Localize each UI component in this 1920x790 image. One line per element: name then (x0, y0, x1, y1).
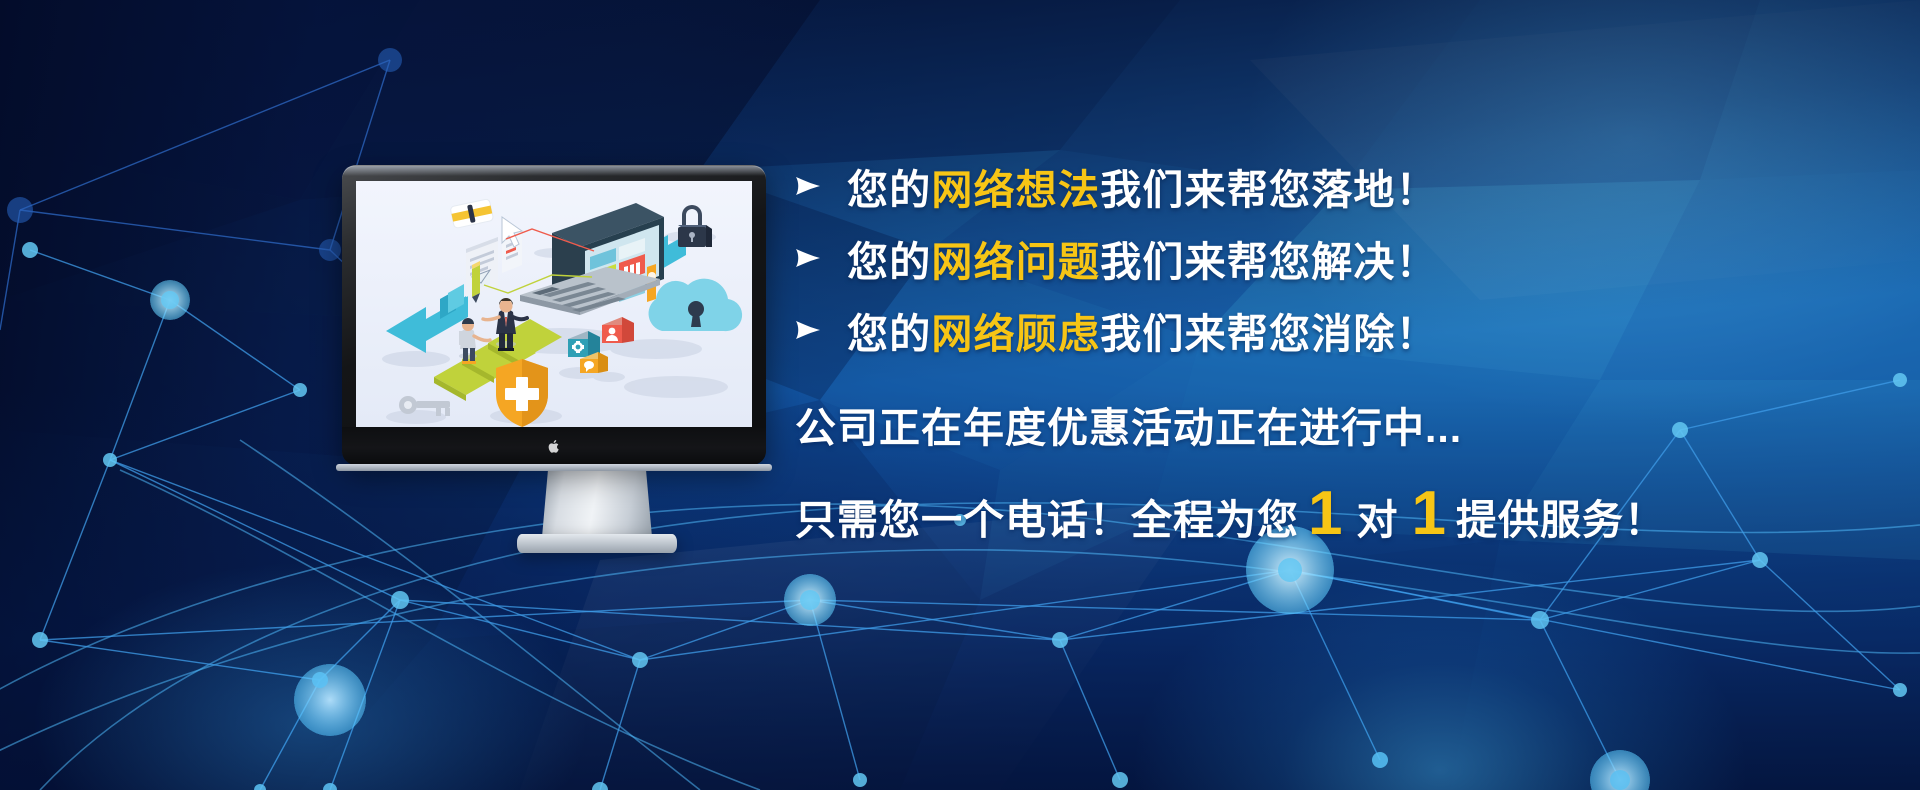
bullet-line-1: 您的网络想法我们来帮您落地！ (795, 150, 1805, 222)
bullet-1-prefix: 您的 (847, 167, 931, 213)
arrow-bullet-icon (795, 247, 821, 269)
cta-tail: 提供服务！ (1456, 486, 1666, 546)
bullet-3-highlight: 网络顾虑 (931, 311, 1100, 357)
bullet-1-highlight: 网络想法 (931, 167, 1100, 213)
bullet-text-3: 您的网络顾虑我们来帮您消除！ (847, 300, 1438, 360)
bottom-right-glow (1130, 560, 1750, 790)
cta-number-first: 1 (1299, 486, 1352, 542)
bullet-2-highlight: 网络问题 (931, 239, 1100, 285)
arrow-bullet-icon (795, 319, 821, 341)
monitor-chin (342, 427, 766, 465)
bullet-text-1: 您的网络想法我们来帮您落地！ (847, 156, 1438, 216)
cta-line: 只需您一个电话！全程为您 1 对 1 提供服务！ (795, 486, 1805, 546)
network-security-isometric-illustration (356, 181, 752, 427)
bullet-2-suffix: 我们来帮您解决！ (1100, 239, 1438, 285)
cta-between: 对 (1352, 486, 1402, 546)
monitor-bottom-edge (336, 464, 772, 471)
apple-logo-icon (548, 439, 561, 454)
bullet-line-2: 您的网络问题我们来帮您解决！ (795, 222, 1805, 294)
promo-line: 公司正在年度优惠活动正在进行中... (795, 394, 1805, 454)
bullet-3-suffix: 我们来帮您消除！ (1100, 311, 1438, 357)
cta-lead: 只需您一个电话！全程为您 (795, 486, 1299, 546)
bullet-3-prefix: 您的 (847, 311, 931, 357)
bullet-line-3: 您的网络顾虑我们来帮您消除！ (795, 294, 1805, 366)
marketing-copy: 您的网络想法我们来帮您落地！ 您的网络问题我们来帮您解决！ 您的网络顾虑我们来帮… (795, 150, 1805, 546)
bullet-text-2: 您的网络问题我们来帮您解决！ (847, 228, 1438, 288)
cta-number-second: 1 (1402, 486, 1455, 542)
banner-stage: 您的网络想法我们来帮您落地！ 您的网络问题我们来帮您解决！ 您的网络顾虑我们来帮… (0, 0, 1920, 790)
bullet-1-suffix: 我们来帮您落地！ (1100, 167, 1438, 213)
arrow-bullet-icon (795, 175, 821, 197)
bullet-2-prefix: 您的 (847, 239, 931, 285)
monitor (342, 165, 766, 465)
monitor-screen (356, 181, 752, 427)
bottom-left-glow (30, 560, 590, 790)
